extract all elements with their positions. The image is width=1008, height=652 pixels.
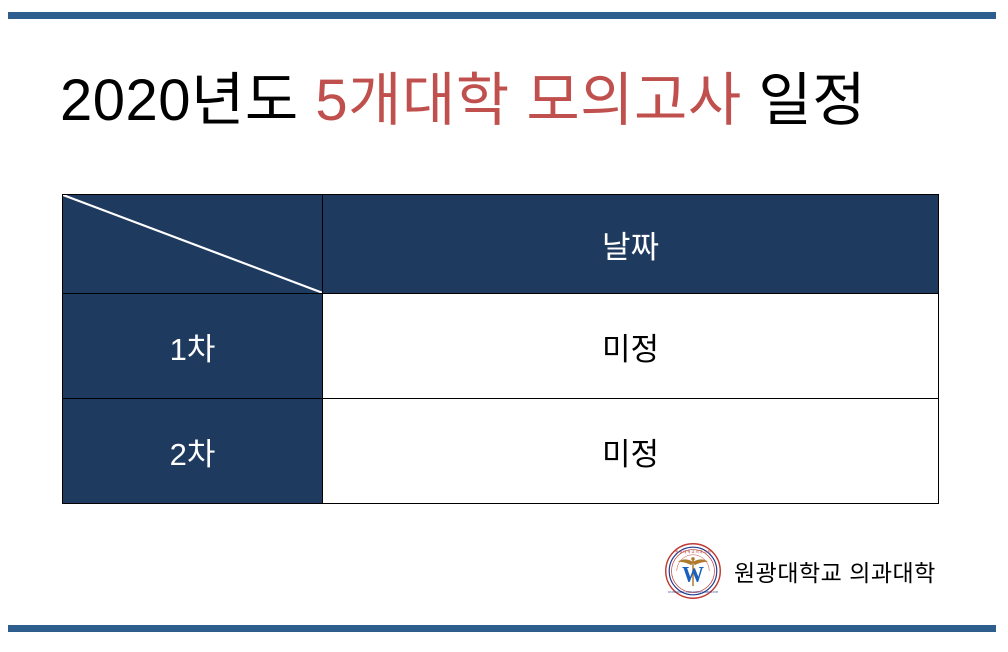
title-space-2 (742, 68, 759, 133)
column-header-date: 날짜 (323, 195, 939, 294)
svg-text:원 광 대 학 교 의 과 대 학: 원 광 대 학 교 의 과 대 학 (675, 549, 711, 554)
footer-organization-name: 원광대학교 의과대학 (734, 554, 936, 588)
table-header-row: 날짜 (63, 195, 939, 294)
cell-date-first-round: 미정 (323, 294, 939, 399)
footer-branding: 원 광 대 학 교 의 과 대 학 WONKWANG UNIVERSITY ME… (664, 538, 964, 604)
title-space-1 (299, 68, 316, 133)
table-row: 2차 미정 (63, 399, 939, 504)
diagonal-divider-line (63, 195, 322, 293)
cell-date-second-round: 미정 (323, 399, 939, 504)
schedule-table-wrapper: 날짜 1차 미정 2차 미정 (62, 194, 938, 500)
svg-text:W: W (682, 561, 704, 586)
title-segment-highlight: 5개대학 모의고사 (315, 68, 741, 133)
schedule-table: 날짜 1차 미정 2차 미정 (62, 194, 939, 504)
row-label-second-round: 2차 (63, 399, 323, 504)
title-segment-schedule: 일정 (758, 68, 866, 133)
row-label-first-round: 1차 (63, 294, 323, 399)
bottom-accent-bar (8, 625, 996, 632)
svg-text:WONKWANG UNIVERSITY MEDICINE: WONKWANG UNIVERSITY MEDICINE (668, 590, 719, 594)
title-segment-year: 2020년도 (60, 68, 299, 133)
top-accent-bar (8, 12, 996, 19)
slide-canvas: 2020년도 5개대학 모의고사 일정 날짜 1차 (0, 0, 1008, 652)
university-emblem-icon: 원 광 대 학 교 의 과 대 학 WONKWANG UNIVERSITY ME… (664, 542, 722, 600)
table-corner-cell (63, 195, 323, 294)
page-title: 2020년도 5개대학 모의고사 일정 (60, 62, 960, 140)
table-row: 1차 미정 (63, 294, 939, 399)
